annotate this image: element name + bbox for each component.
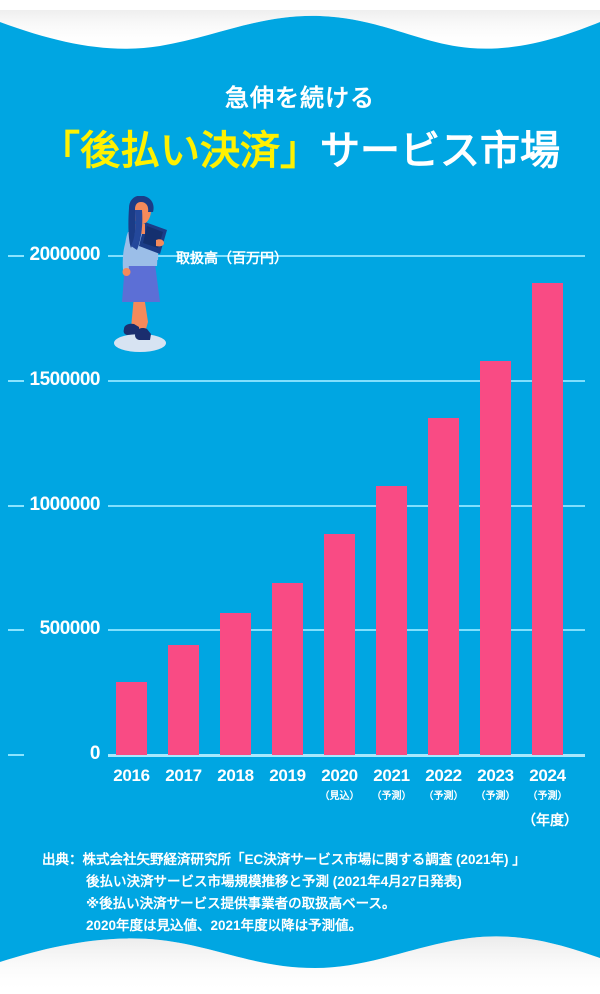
- woman-illustration-svg: [98, 196, 182, 356]
- x-axis-label-2017: 2017: [154, 766, 214, 786]
- bar-2018[interactable]: [220, 613, 251, 755]
- bar-2022[interactable]: [428, 418, 459, 755]
- footnote-line-4: 2020年度は見込値、2021年度以降は予測値。: [42, 915, 582, 937]
- bar-2019[interactable]: [272, 583, 303, 755]
- x-axis-label-2020: 2020（見込）: [310, 766, 370, 802]
- x-axis-label-2023: 2023（予測）: [466, 766, 526, 802]
- woman-with-tablet-illustration: [98, 196, 182, 356]
- x-axis-label-note: （予測）: [466, 787, 526, 802]
- x-axis-label-2016: 2016: [102, 766, 162, 786]
- x-axis-unit-label: （年度）: [522, 810, 578, 830]
- x-axis-label-year: 2019: [258, 766, 318, 786]
- hand-left: [123, 268, 131, 276]
- bar-2017[interactable]: [168, 645, 199, 755]
- x-axis-label-2019: 2019: [258, 766, 318, 786]
- footnote: 出典：株式会社矢野経済研究所「EC決済サービス市場に関する調査 (2021年) …: [42, 849, 582, 936]
- content-layer: 急伸を続ける 「後払い決済」サービス市場 0500000100000015000…: [0, 0, 600, 994]
- x-axis-label-year: 2018: [206, 766, 266, 786]
- x-axis-label-2018: 2018: [206, 766, 266, 786]
- bar-2021[interactable]: [376, 486, 407, 755]
- y-axis-tick-label: 1500000: [14, 369, 100, 391]
- x-axis-label-note: （予測）: [414, 787, 474, 802]
- gridline-1000000: [108, 505, 585, 507]
- x-axis-label-note: （予測）: [362, 787, 422, 802]
- x-axis-label-year: 2017: [154, 766, 214, 786]
- x-axis-label-year: 2020: [310, 766, 370, 786]
- footnote-line-2: 後払い決済サービス市場規模推移と予測 (2021年4月27日発表): [42, 871, 582, 893]
- x-axis-label-2021: 2021（予測）: [362, 766, 422, 802]
- footnote-line-1: 出典：株式会社矢野経済研究所「EC決済サービス市場に関する調査 (2021年) …: [42, 849, 582, 871]
- y-axis-tick-label: 2000000: [14, 244, 100, 266]
- x-axis-label-note: （予測）: [518, 787, 578, 802]
- y-axis-tick-label: 500000: [14, 618, 100, 640]
- infographic-root: 急伸を続ける 「後払い決済」サービス市場 0500000100000015000…: [0, 0, 600, 994]
- bar-2016[interactable]: [116, 682, 147, 755]
- bar-2023[interactable]: [480, 361, 511, 755]
- bar-chart: 0500000100000015000002000000 20162017201…: [0, 0, 600, 994]
- x-axis-label-year: 2023: [466, 766, 526, 786]
- y-axis-title: 取扱高（百万円）: [176, 248, 288, 268]
- bar-2020[interactable]: [324, 534, 355, 755]
- x-axis-label-2024: 2024（予測）: [518, 766, 578, 802]
- y-axis-tick-label: 0: [14, 743, 100, 765]
- x-axis-label-year: 2016: [102, 766, 162, 786]
- x-axis-label-year: 2024: [518, 766, 578, 786]
- x-axis-label-note: （見込）: [310, 787, 370, 802]
- x-axis-label-year: 2022: [414, 766, 474, 786]
- x-axis-label-year: 2021: [362, 766, 422, 786]
- bar-2024[interactable]: [532, 283, 563, 755]
- x-axis-label-2022: 2022（予測）: [414, 766, 474, 802]
- footnote-line-3: ※後払い決済サービス提供事業者の取扱高ベース。: [42, 893, 582, 915]
- gridline-1500000: [108, 380, 585, 382]
- y-axis-tick-label: 1000000: [14, 494, 100, 516]
